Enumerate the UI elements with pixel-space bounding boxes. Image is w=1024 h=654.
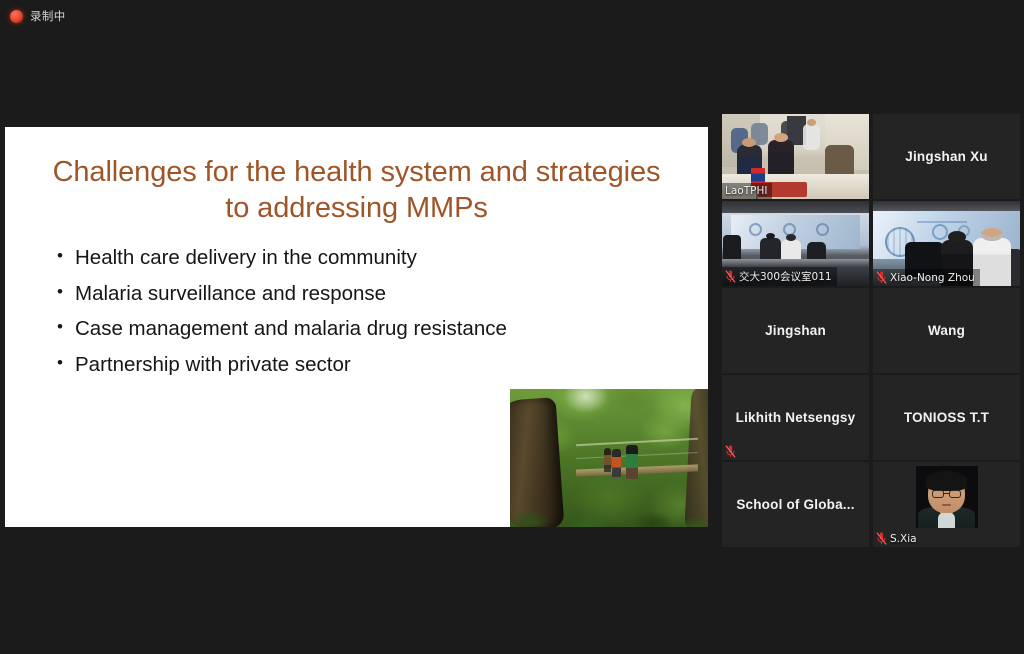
tile-footer [722, 443, 741, 460]
participant-name: Jingshan Xu [873, 114, 1020, 199]
slide-bullet-item: Malaria surveillance and response [57, 284, 708, 305]
photo-person [612, 449, 621, 477]
photo-sky [564, 389, 608, 413]
mic-muted-icon [876, 271, 887, 284]
photo-person [604, 448, 611, 472]
participant-tile-laotphi[interactable]: LaoTPHI [722, 114, 869, 199]
photo-foreground-foliage [510, 483, 708, 527]
participant-tile-jiaoda-room-011[interactable]: 交大300会议室011 [722, 201, 869, 286]
participant-tile-likhith-netsengsy[interactable]: Likhith Netsengsy [722, 375, 869, 460]
participant-name: 交大300会议室011 [739, 269, 832, 284]
participant-video-grid: LaoTPHI Jingshan Xu [722, 114, 1022, 547]
slide-bullet-list: Health care delivery in the community Ma… [57, 248, 708, 375]
slide-bullet-item: Case management and malaria drug resista… [57, 319, 708, 340]
zoom-meeting-window: 录制中 Challenges for the health system and… [0, 0, 1024, 654]
photo-person [626, 445, 638, 479]
participant-name: LaoTPHI [725, 185, 767, 197]
recording-indicator[interactable]: 录制中 [10, 7, 66, 25]
participant-tile-tonioss-tt[interactable]: TONIOSS T.T [873, 375, 1020, 460]
participant-tile-school-of-global[interactable]: School of Globa... [722, 462, 869, 547]
participant-name: S.Xia [890, 533, 917, 545]
mic-muted-icon [725, 445, 736, 458]
participant-name: School of Globa... [722, 462, 869, 547]
tile-footer: LaoTPHI [722, 183, 772, 199]
participant-tile-jingshan[interactable]: Jingshan [722, 288, 869, 373]
recording-label: 录制中 [30, 8, 66, 24]
tile-footer: Xiao-Nong Zhou [873, 269, 980, 286]
avatar [916, 466, 978, 528]
slide-photo-forest-bridge [510, 389, 708, 527]
slide-bullet-item: Health care delivery in the community [57, 248, 708, 269]
slide-bullet-item: Partnership with private sector [57, 355, 708, 376]
tile-footer: S.Xia [873, 530, 922, 547]
mic-muted-icon [725, 270, 736, 283]
participant-tile-s-xia[interactable]: S.Xia [873, 462, 1020, 547]
tile-footer: 交大300会议室011 [722, 267, 837, 286]
slide-title: Challenges for the health system and str… [47, 155, 666, 226]
mic-muted-icon [876, 532, 887, 545]
participant-name: TONIOSS T.T [873, 375, 1020, 460]
participant-tile-xiao-nong-zhou[interactable]: Xiao-Nong Zhou [873, 201, 1020, 286]
participant-tile-jingshan-xu[interactable]: Jingshan Xu [873, 114, 1020, 199]
participant-name: Jingshan [722, 288, 869, 373]
shared-screen-slide[interactable]: Challenges for the health system and str… [5, 127, 708, 527]
participant-name: Likhith Netsengsy [722, 375, 869, 460]
participant-name: Wang [873, 288, 1020, 373]
record-dot-icon [10, 10, 23, 23]
participant-name: Xiao-Nong Zhou [890, 272, 975, 284]
participant-tile-wang[interactable]: Wang [873, 288, 1020, 373]
